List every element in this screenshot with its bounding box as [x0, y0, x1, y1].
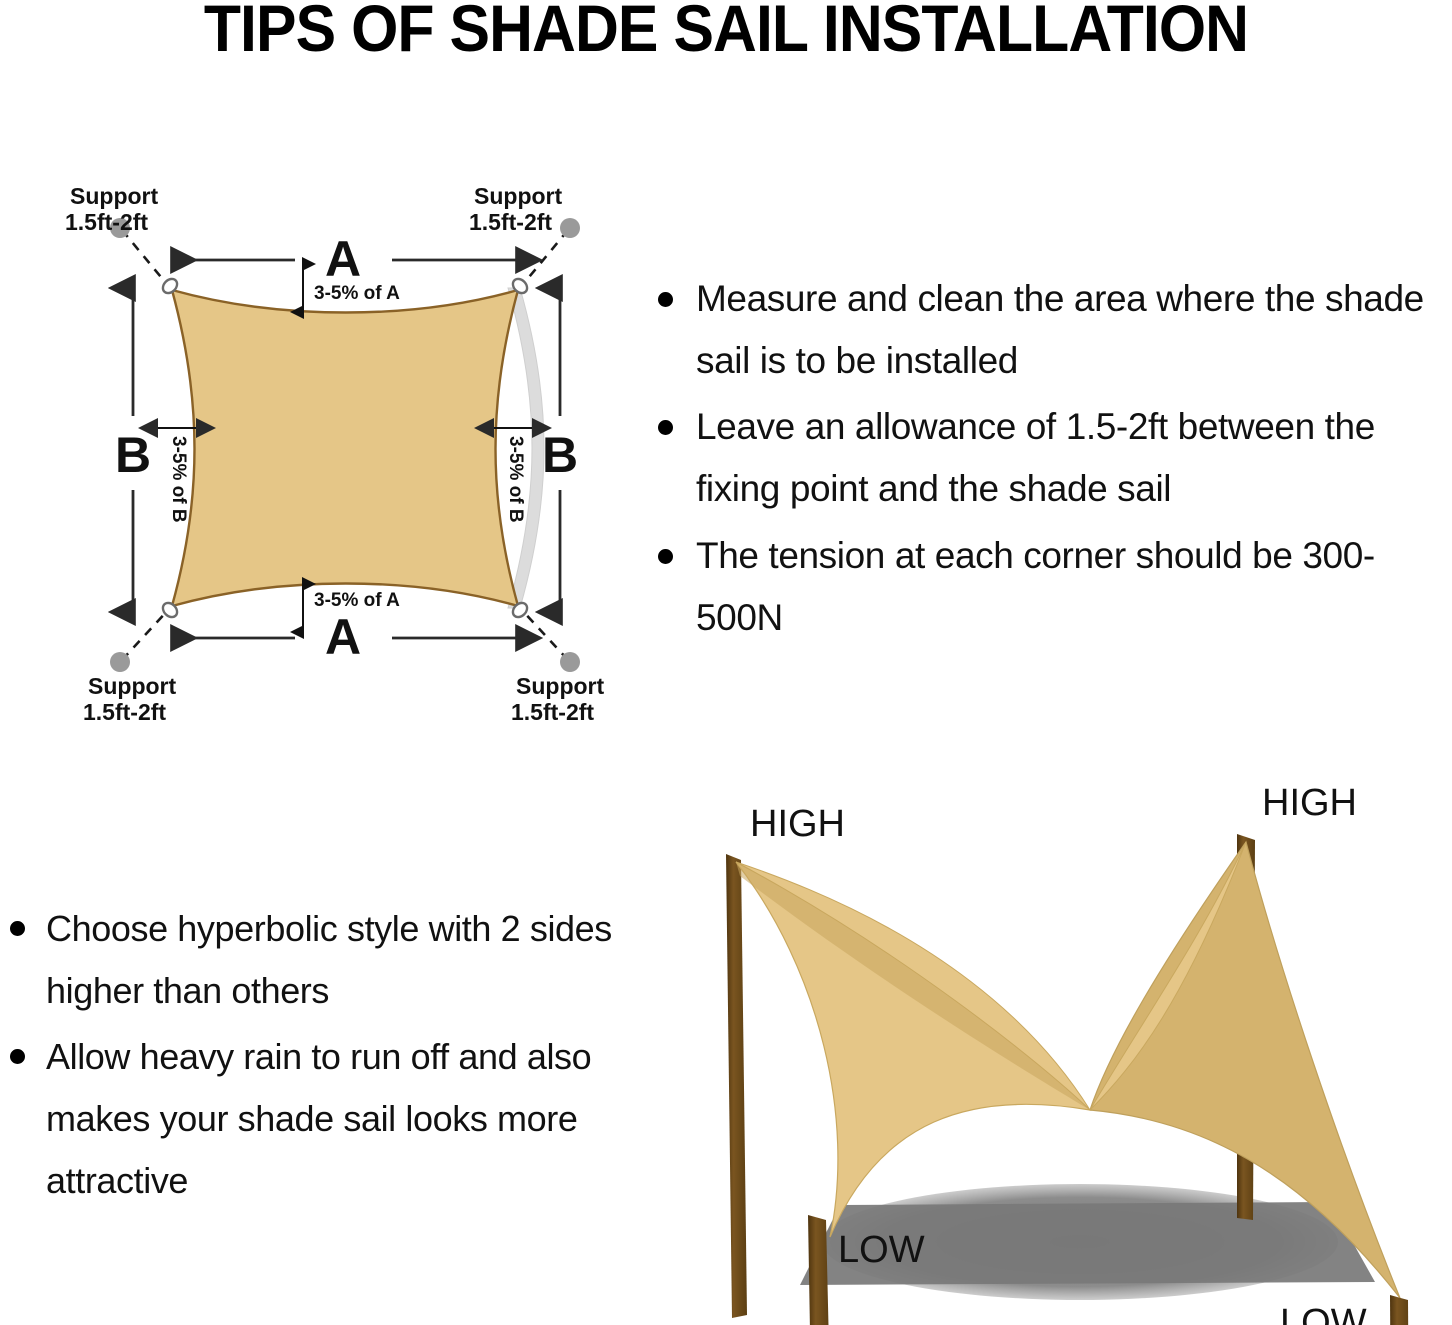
tip-text: The tension at each corner should be 300…: [696, 535, 1375, 638]
shade-sail-fabric: [172, 290, 518, 606]
anchor-dot-bottom-left: [110, 652, 130, 672]
hyperbolic-sail-illustration: HIGH HIGH LOW LOW: [640, 790, 1452, 1325]
tether-top-left: [122, 230, 170, 288]
support-label-top-left-line2: 1.5ft-2ft: [65, 209, 148, 235]
post-high-left: [726, 854, 747, 1318]
tether-bottom-left: [122, 608, 170, 660]
list-item: Choose hyperbolic style with 2 sides hig…: [0, 898, 630, 1022]
hyperbolic-style-list: Choose hyperbolic style with 2 sides hig…: [0, 898, 630, 1238]
installation-tips-list: Measure and clean the area where the sha…: [648, 268, 1452, 668]
anchor-dot-top-right: [560, 218, 580, 238]
square-sail-diagram: A 3-5% of A A 3-5% of A B 3-5% of B B: [40, 160, 640, 740]
tip-text: Leave an allowance of 1.5-2ft between th…: [696, 406, 1375, 509]
post-low-right: [1390, 1295, 1410, 1325]
bullet-dot-icon: [658, 292, 673, 307]
list-item: Measure and clean the area where the sha…: [648, 268, 1452, 392]
list-item: Allow heavy rain to run off and also mak…: [0, 1026, 630, 1212]
dimension-label-a-top: A: [325, 231, 361, 287]
dimension-label-a-bottom: A: [325, 609, 361, 665]
tether-bottom-right: [520, 608, 568, 660]
dimension-a-bottom: A 3-5% of A: [173, 584, 518, 665]
support-label-bottom-left-line2: 1.5ft-2ft: [83, 699, 166, 725]
page-title: TIPS OF SHADE SAIL INSTALLATION: [58, 0, 1394, 63]
curve-callout-bottom: 3-5% of A: [314, 590, 400, 611]
dimension-label-b-right: B: [542, 427, 578, 483]
label-high-left: HIGH: [750, 803, 845, 845]
label-low-left: LOW: [838, 1229, 925, 1271]
label-low-right: LOW: [1280, 1302, 1367, 1325]
support-label-bottom-right-line1: Support: [516, 673, 604, 699]
style-bullets: Choose hyperbolic style with 2 sides hig…: [0, 898, 630, 1212]
tip-text: Measure and clean the area where the sha…: [696, 278, 1424, 381]
style-text: Allow heavy rain to run off and also mak…: [46, 1036, 591, 1201]
support-label-top-right-line1: Support: [474, 183, 562, 209]
curve-callout-left: 3-5% of B: [168, 436, 189, 523]
support-label-bottom-left-line1: Support: [88, 673, 176, 699]
curve-callout-right: 3-5% of B: [505, 436, 526, 523]
bullet-dot-icon: [10, 921, 25, 936]
bullet-dot-icon: [658, 549, 673, 564]
dimension-label-b-left: B: [115, 427, 151, 483]
support-label-bottom-right-line2: 1.5ft-2ft: [511, 699, 594, 725]
label-high-right: HIGH: [1262, 782, 1357, 824]
style-text: Choose hyperbolic style with 2 sides hig…: [46, 908, 612, 1011]
bullet-dot-icon: [658, 420, 673, 435]
list-item: Leave an allowance of 1.5-2ft between th…: [648, 396, 1452, 520]
bullet-dot-icon: [10, 1049, 25, 1064]
support-label-top-left-line1: Support: [70, 183, 158, 209]
support-label-top-right-line2: 1.5ft-2ft: [469, 209, 552, 235]
anchor-dot-bottom-right: [560, 652, 580, 672]
dimension-a-top: A 3-5% of A: [173, 231, 518, 312]
curve-callout-top: 3-5% of A: [314, 283, 400, 304]
tether-top-right: [520, 230, 568, 288]
tips-bullets: Measure and clean the area where the sha…: [648, 268, 1452, 649]
list-item: The tension at each corner should be 300…: [648, 525, 1452, 649]
